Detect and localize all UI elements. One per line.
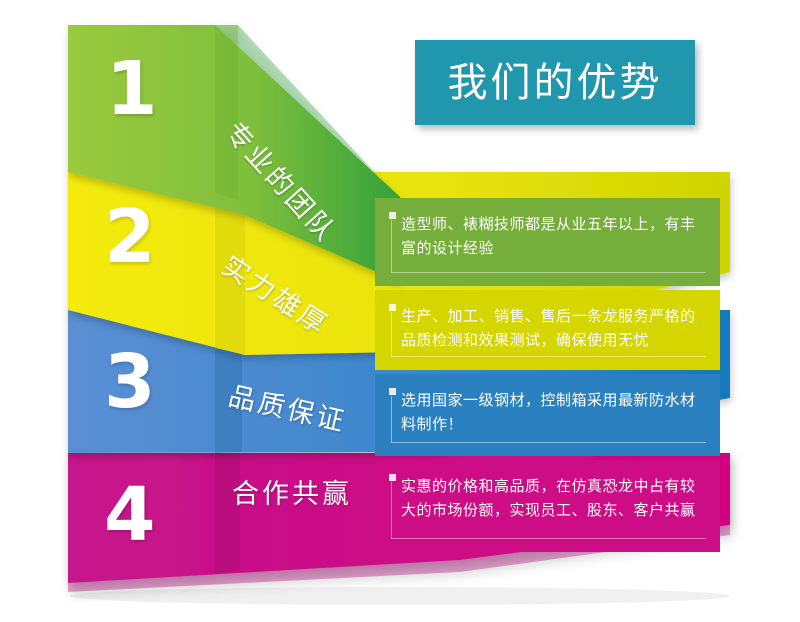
panel-rule-horizontal [391, 356, 706, 357]
page-title: 我们的优势 [415, 40, 695, 125]
panel-rule-horizontal [391, 538, 706, 539]
panel-rule-vertical [391, 312, 392, 356]
infographic-canvas: 我们的优势 1 2 3 4 专业的团队 实力雄厚 品质保证 合作共赢 造型师、裱… [0, 0, 800, 622]
bullet-dot-icon [389, 212, 396, 219]
step-number-1: 1 [106, 52, 158, 126]
info-panel-text-1: 造型师、裱糊技师都是从业五年以上，有丰富的设计经验 [401, 212, 704, 260]
panel-rule-vertical [391, 220, 392, 272]
page-title-text: 我们的优势 [448, 63, 663, 103]
step-number-4: 4 [104, 478, 156, 552]
bullet-dot-icon [389, 474, 396, 481]
info-panel-text-3: 选用国家一级钢材，控制箱采用最新防水材料制作！ [401, 388, 704, 436]
info-panel-2: 生产、加工、销售、售后一条龙服务严格的品质检测和效果测试，确保使用无忧 [375, 290, 720, 370]
info-panel-text-2: 生产、加工、销售、售后一条龙服务严格的品质检测和效果测试，确保使用无忧 [401, 304, 704, 352]
ribbon-label-4: 合作共赢 [232, 481, 352, 508]
panel-rule-vertical [391, 482, 392, 538]
info-panel-3: 选用国家一级钢材，控制箱采用最新防水材料制作！ [375, 374, 720, 456]
panel-rule-vertical [391, 396, 392, 442]
info-panel-4: 实惠的价格和高品质，在仿真恐龙中占有较大的市场份额，实现员工、股东、客户共赢 [375, 460, 720, 552]
step-number-2: 2 [104, 200, 156, 274]
info-panel-1: 造型师、裱糊技师都是从业五年以上，有丰富的设计经验 [375, 198, 720, 286]
panel-rule-horizontal [391, 272, 706, 273]
panel-rule-horizontal [391, 442, 706, 443]
bullet-dot-icon [389, 304, 396, 311]
step-number-3: 3 [104, 345, 156, 419]
bullet-dot-icon [389, 388, 396, 395]
info-panel-text-4: 实惠的价格和高品质，在仿真恐龙中占有较大的市场份额，实现员工、股东、客户共赢 [401, 474, 704, 522]
